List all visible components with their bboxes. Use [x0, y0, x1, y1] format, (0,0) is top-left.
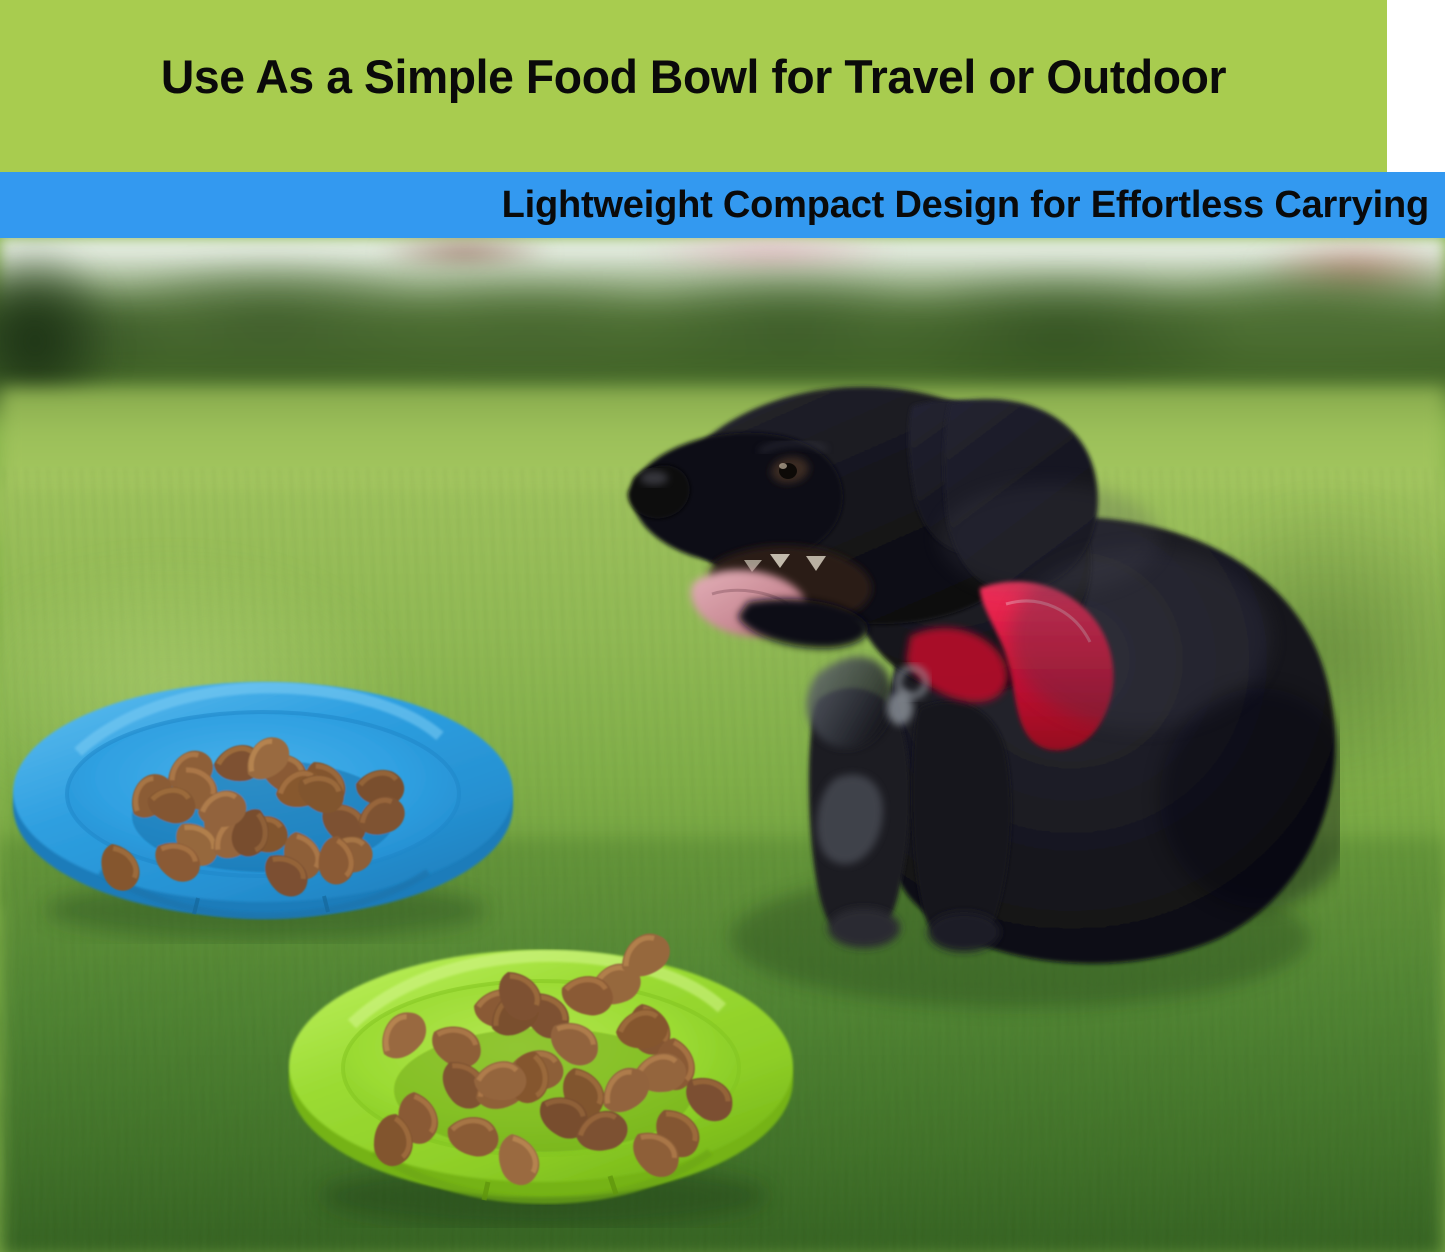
dog-nose-highlight: [640, 471, 668, 485]
product-image-canvas: Use As a Simple Food Bowl for Travel or …: [0, 0, 1445, 1252]
blue-travel-bowl: [8, 666, 518, 944]
headline-text: Use As a Simple Food Bowl for Travel or …: [10, 48, 1376, 106]
dog-front-leg-right: [912, 701, 1011, 942]
green-travel-bowl: [286, 928, 796, 1228]
subheadline-text: Lightweight Compact Design for Effortles…: [0, 182, 1429, 229]
lifestyle-photo: [0, 238, 1445, 1252]
dog-paw-left: [828, 908, 900, 948]
dog-collar-tag: [887, 691, 913, 725]
dog-paw-right: [928, 912, 1000, 952]
dog-eye-glint: [779, 463, 787, 469]
dog-back-sheen: [940, 483, 1160, 593]
